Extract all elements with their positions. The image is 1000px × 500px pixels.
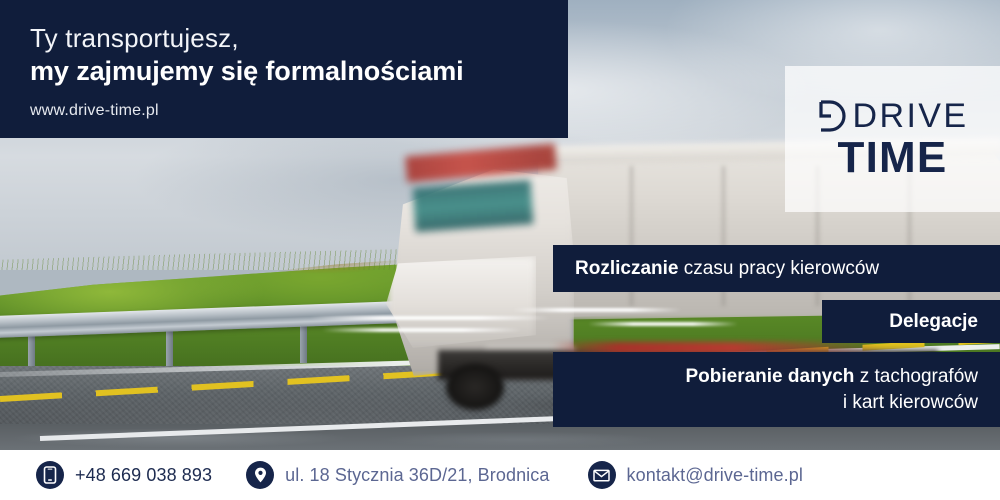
motion-streak — [322, 328, 522, 332]
feature-2-bold: Delegacje — [889, 311, 978, 332]
feature-3-rest: z tachografów — [854, 366, 978, 387]
website-url[interactable]: www.drive-time.pl — [30, 102, 159, 120]
contact-bar: +48 669 038 893 ul. 18 Stycznia 36D/21, … — [0, 450, 1000, 500]
feature-1-rest: czasu pracy kierowców — [678, 258, 879, 279]
feature-3-bold: Pobieranie danych — [685, 366, 854, 387]
feature-1-bold: Rozliczanie — [575, 258, 678, 279]
clock-d-icon — [817, 99, 848, 133]
feature-1-text: Rozliczanie czasu pracy kierowców — [575, 256, 879, 281]
feature-3-text: Pobieranie danych z tachografów — [685, 364, 978, 389]
address-text: ul. 18 Stycznia 36D/21, Brodnica — [285, 465, 549, 486]
truck-cab-front — [386, 256, 536, 348]
motion-streak — [310, 316, 550, 320]
envelope-icon — [588, 461, 616, 489]
feature-2-text: Delegacje — [889, 309, 978, 334]
feature-box-delegacje[interactable]: Delegacje — [822, 300, 1000, 343]
advertisement-banner: Ty transportujesz, my zajmujemy się form… — [0, 0, 1000, 500]
contact-email[interactable]: kontakt@drive-time.pl — [588, 461, 803, 489]
feature-box-pobieranie-danych[interactable]: Pobieranie danych z tachografów i kart k… — [553, 352, 1000, 427]
truck-wheel — [446, 364, 504, 410]
motion-streak — [512, 308, 682, 312]
truck-windshield — [413, 180, 534, 232]
motion-streak — [588, 322, 738, 326]
contact-address[interactable]: ul. 18 Stycznia 36D/21, Brodnica — [246, 461, 549, 489]
logo-drive-row: DRIVE — [817, 99, 969, 133]
feature-box-rozliczanie[interactable]: Rozliczanie czasu pracy kierowców — [553, 245, 1000, 292]
phone-icon — [36, 461, 64, 489]
logo-text-time: TIME — [838, 136, 948, 180]
phone-number: +48 669 038 893 — [75, 465, 212, 486]
headline-block: Ty transportujesz, my zajmujemy się form… — [0, 0, 568, 138]
feature-3-line-2: i kart kierowców — [843, 390, 978, 415]
logo-text-drive: DRIVE — [853, 99, 969, 133]
location-pin-icon — [246, 461, 274, 489]
email-address: kontakt@drive-time.pl — [627, 465, 803, 486]
headline-line-2: my zajmujemy się formalnościami — [30, 56, 464, 87]
brand-logo[interactable]: DRIVE TIME — [785, 66, 1000, 212]
contact-phone[interactable]: +48 669 038 893 — [36, 461, 212, 489]
headline-line-1: Ty transportujesz, — [30, 23, 239, 54]
